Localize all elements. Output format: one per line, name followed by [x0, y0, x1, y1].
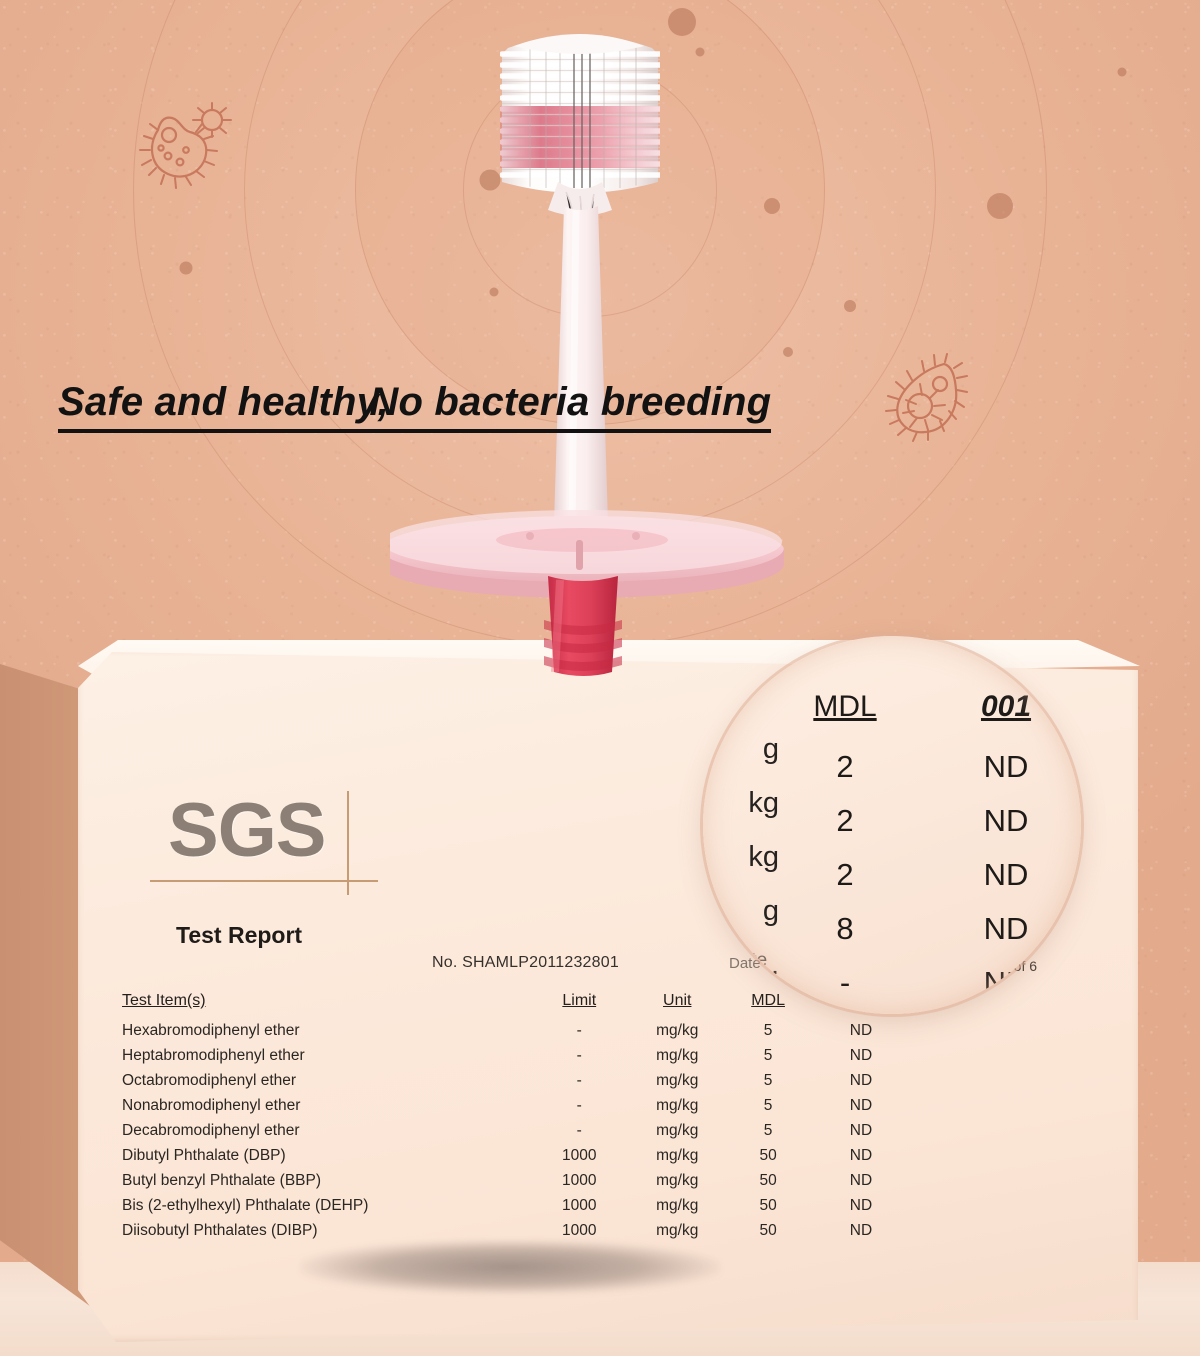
cell-limit: -: [530, 1043, 628, 1068]
cell-limit: -: [530, 1068, 628, 1093]
cell-unit: mg/kg: [628, 1218, 726, 1243]
cell-unit: mg/kg: [628, 1068, 726, 1093]
background-dot: [180, 262, 193, 275]
table-row: Bis (2-ethylhexyl) Phthalate (DEHP)1000m…: [122, 1193, 912, 1218]
cell-result: ND: [810, 1143, 912, 1168]
cell-test-item: Nonabromodiphenyl ether: [122, 1093, 530, 1118]
magnified-mdl-value: 2: [755, 848, 935, 902]
marketing-headline: Safe and healthy, No bacteria breeding: [58, 352, 771, 433]
cell-result: ND: [810, 1093, 912, 1118]
cell-test-item: Hexabromodiphenyl ether: [122, 1018, 530, 1043]
cell-test-item: Diisobutyl Phthalates (DIBP): [122, 1218, 530, 1243]
logo-vertical-rule: [347, 791, 349, 895]
magnified-result-value: ND: [921, 740, 1081, 794]
cell-result: ND: [810, 1168, 912, 1193]
table-row: Dibutyl Phthalate (DBP)1000mg/kg50ND: [122, 1143, 912, 1168]
cell-test-item: Heptabromodiphenyl ether: [122, 1043, 530, 1068]
brush-shadow-on-box: [300, 1240, 720, 1294]
cell-result: ND: [810, 1068, 912, 1093]
cell-limit: 1000: [530, 1193, 628, 1218]
cell-unit: mg/kg: [628, 1193, 726, 1218]
table-row: Decabromodiphenyl ether-mg/kg5ND: [122, 1118, 912, 1143]
logo-horizontal-rule: [150, 880, 378, 882]
cell-mdl: 50: [726, 1143, 810, 1168]
cell-limit: -: [530, 1118, 628, 1143]
cell-mdl: 50: [726, 1218, 810, 1243]
magnified-result-value: ND: [921, 848, 1081, 902]
table-row: Octabromodiphenyl ether-mg/kg5ND: [122, 1068, 912, 1093]
cell-test-item: Octabromodiphenyl ether: [122, 1068, 530, 1093]
cell-test-item: Dibutyl Phthalate (DBP): [122, 1143, 530, 1168]
cell-result: ND: [810, 1193, 912, 1218]
table-row: Nonabromodiphenyl ether-mg/kg5ND: [122, 1093, 912, 1118]
magnified-header-001: 001: [921, 680, 1081, 734]
magnified-header-mdl: MDL: [755, 680, 935, 734]
magnifier-lens: gkgkgg. MDL 2228-5 001 NDNDNDNDNDND Date…: [703, 636, 1081, 1014]
magnified-mdl-column: MDL 2228-5: [755, 680, 935, 1014]
test-results-table: Test Item(s) Limit Unit MDL 001 Hexabrom…: [122, 992, 912, 1243]
cell-mdl: 5: [726, 1068, 810, 1093]
magnified-mdl-value: 2: [755, 740, 935, 794]
cell-mdl: 5: [726, 1093, 810, 1118]
cell-limit: -: [530, 1018, 628, 1043]
magnified-result-value: ND: [921, 1010, 1081, 1014]
magnified-mdl-value: 2: [755, 794, 935, 848]
cell-result: ND: [810, 1018, 912, 1043]
table-row: Diisobutyl Phthalates (DIBP)1000mg/kg50N…: [122, 1218, 912, 1243]
cell-unit: mg/kg: [628, 1168, 726, 1193]
magnified-result-value: ND: [921, 902, 1081, 956]
magnified-page-number: 3 of 6: [1028, 954, 1071, 974]
magnified-date-label: Date: [727, 950, 767, 972]
product-detail-image: SGS Test Report No. SHAMLP2011232801 Dat…: [0, 0, 1200, 1356]
column-header-limit: Limit: [530, 992, 628, 1018]
magnified-mdl-value: 8: [755, 902, 935, 956]
background-dot: [1118, 68, 1127, 77]
magnified-result-value: ND: [921, 794, 1081, 848]
cell-limit: 1000: [530, 1218, 628, 1243]
magnified-mdl-value: -: [755, 956, 935, 1010]
cell-unit: mg/kg: [628, 1043, 726, 1068]
cell-mdl: 5: [726, 1043, 810, 1068]
report-title: Test Report: [176, 922, 302, 949]
cell-test-item: Bis (2-ethylhexyl) Phthalate (DEHP): [122, 1193, 530, 1218]
bacteria-icon: [872, 348, 982, 448]
cell-result: ND: [810, 1043, 912, 1068]
cell-mdl: 50: [726, 1168, 810, 1193]
table-row: Heptabromodiphenyl ether-mg/kg5ND: [122, 1043, 912, 1068]
table-row: Hexabromodiphenyl ether-mg/kg5ND: [122, 1018, 912, 1043]
cell-mdl: 5: [726, 1118, 810, 1143]
background-dot: [987, 193, 1013, 219]
toothbrush-product: [390, 20, 810, 680]
background-dot: [844, 300, 856, 312]
cell-unit: mg/kg: [628, 1143, 726, 1168]
cell-unit: mg/kg: [628, 1093, 726, 1118]
cell-limit: 1000: [530, 1168, 628, 1193]
cell-mdl: 5: [726, 1018, 810, 1043]
report-number: No. SHAMLP2011232801: [432, 954, 619, 972]
cell-test-item: Decabromodiphenyl ether: [122, 1118, 530, 1143]
column-header-test-item: Test Item(s): [122, 992, 530, 1018]
cell-unit: mg/kg: [628, 1118, 726, 1143]
cell-mdl: 50: [726, 1193, 810, 1218]
cell-test-item: Butyl benzyl Phthalate (BBP): [122, 1168, 530, 1193]
table-row: Butyl benzyl Phthalate (BBP)1000mg/kg50N…: [122, 1168, 912, 1193]
magnifier-content: gkgkgg. MDL 2228-5 001 NDNDNDNDNDND Date…: [703, 636, 1081, 1014]
sgs-logo: SGS: [168, 793, 326, 869]
magnified-mdl-value: 5: [755, 1010, 935, 1014]
cell-result: ND: [810, 1218, 912, 1243]
headline-line-1: Safe and healthy,: [58, 380, 389, 433]
cell-limit: 1000: [530, 1143, 628, 1168]
cell-unit: mg/kg: [628, 1018, 726, 1043]
bacteria-icon: [128, 90, 248, 200]
cell-result: ND: [810, 1118, 912, 1143]
cell-limit: -: [530, 1093, 628, 1118]
headline-line-2: No bacteria breeding: [369, 380, 771, 433]
